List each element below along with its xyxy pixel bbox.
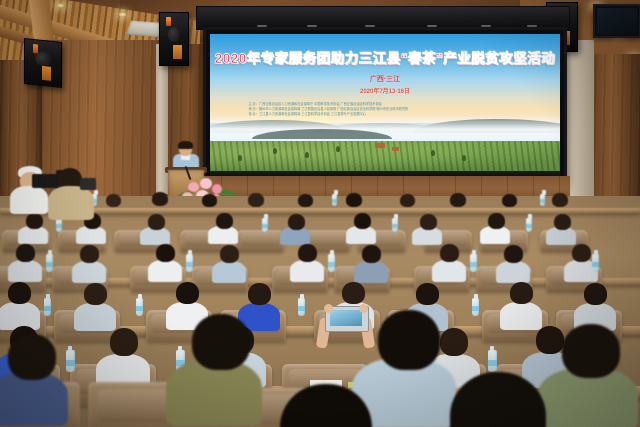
downlight [118, 12, 127, 17]
audience-seating-area [0, 196, 640, 427]
village-hut [392, 147, 399, 151]
tree [238, 155, 242, 161]
screen-date: 2020年7月13-16日 [210, 86, 560, 95]
press-photographers [6, 166, 106, 236]
credit-line: 协 办：三江县人力资源和社会保障局 三江县科学技术协会 三江县茶叶产业发展中心 [249, 112, 522, 117]
downlight [56, 3, 65, 8]
led-display-screen: 2020年专家服务团助力三江县“春茶”产业脱贫攻坚活动 广西·三江 2020年7… [203, 27, 567, 185]
tree [431, 150, 435, 156]
tree [273, 148, 277, 154]
screen-credit-lines: 主 办：广西壮族自治区人力资源和社会保障厅 中国科学技术协会 广西壮族自治区科学… [249, 102, 522, 118]
village-hut [375, 143, 385, 148]
tree [305, 152, 309, 158]
loudspeaker [159, 12, 189, 66]
loudspeaker [24, 38, 62, 88]
tree [336, 146, 340, 152]
screen-title: 2020年专家服务团助力三江县“春茶”产业脱贫攻坚活动 [210, 47, 560, 67]
conference-hall-photo: 2020年专家服务团助力三江县“春茶”产业脱贫攻坚活动 广西·三江 2020年7… [0, 0, 640, 427]
screen-subtitle: 广西·三江 [210, 74, 560, 84]
wall-monitor [593, 4, 640, 38]
attendee-camera [318, 302, 374, 348]
screen-content: 2020年专家服务团助力三江县“春茶”产业脱贫攻坚活动 广西·三江 2020年7… [210, 34, 560, 178]
tree [462, 155, 466, 161]
